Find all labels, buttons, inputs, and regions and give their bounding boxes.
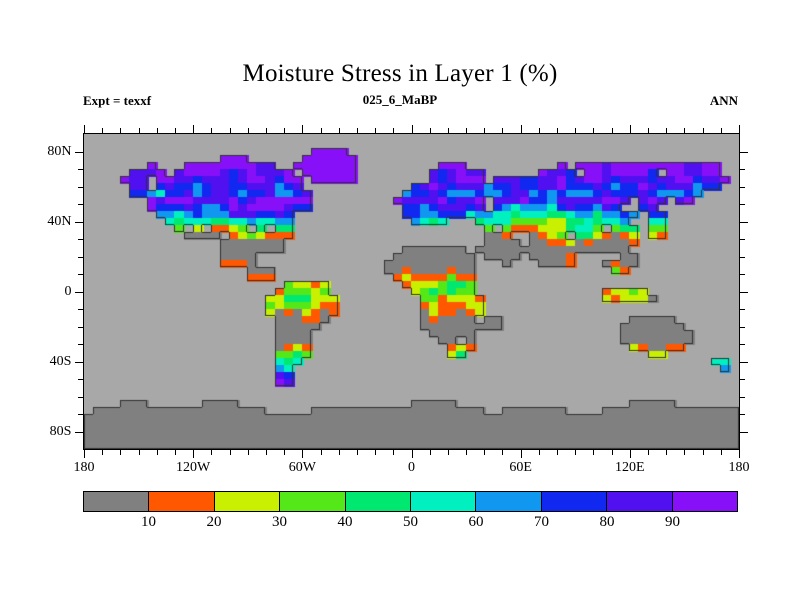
x-axis-minor-tick-top bbox=[703, 128, 704, 133]
colorbar-tick-label: 80 bbox=[600, 514, 615, 531]
x-axis-minor-tick-top bbox=[466, 128, 467, 133]
x-axis-label: 60E bbox=[509, 460, 532, 476]
x-axis-minor-tick bbox=[484, 450, 485, 455]
x-axis-label: 60W bbox=[289, 460, 316, 476]
y-axis-minor-tick-right bbox=[740, 344, 745, 345]
y-axis-label: 40N bbox=[47, 214, 77, 230]
y-axis-minor-tick bbox=[78, 239, 83, 240]
x-axis-minor-tick-top bbox=[593, 128, 594, 133]
y-axis-minor-tick bbox=[78, 397, 83, 398]
colorbar-tick-label: 60 bbox=[469, 514, 484, 531]
x-axis-minor-tick-top bbox=[339, 128, 340, 133]
x-axis-label: 180 bbox=[74, 460, 95, 476]
colorbar-swatch-40-50 bbox=[345, 492, 410, 511]
x-axis-minor-tick-top bbox=[321, 128, 322, 133]
y-axis-minor-tick bbox=[78, 204, 83, 205]
x-axis-major-tick-top bbox=[193, 125, 194, 133]
x-axis-minor-tick bbox=[321, 450, 322, 455]
x-axis-label: 120E bbox=[615, 460, 645, 476]
x-axis-major-tick-top bbox=[521, 125, 522, 133]
x-axis-minor-tick bbox=[502, 450, 503, 455]
y-axis-major-tick-right bbox=[740, 152, 748, 153]
y-axis-minor-tick bbox=[78, 257, 83, 258]
x-axis-minor-tick bbox=[466, 450, 467, 455]
x-axis-minor-tick-top bbox=[721, 128, 722, 133]
x-axis-minor-tick bbox=[593, 450, 594, 455]
x-axis-major-tick bbox=[302, 450, 303, 458]
colorbar-tick-label: 50 bbox=[403, 514, 418, 531]
x-axis-minor-tick bbox=[357, 450, 358, 455]
x-axis-minor-tick bbox=[393, 450, 394, 455]
x-axis-major-tick bbox=[630, 450, 631, 458]
x-axis-minor-tick-top bbox=[430, 128, 431, 133]
colorbar-tick-label: 20 bbox=[207, 514, 222, 531]
x-axis-minor-tick bbox=[102, 450, 103, 455]
x-axis-minor-tick bbox=[448, 450, 449, 455]
x-axis-major-tick bbox=[84, 450, 85, 458]
y-axis-minor-tick bbox=[78, 187, 83, 188]
x-axis-minor-tick-top bbox=[484, 128, 485, 133]
x-axis-label: 0 bbox=[408, 460, 415, 476]
y-axis-label: 80N bbox=[47, 144, 77, 160]
x-axis-minor-tick-top bbox=[393, 128, 394, 133]
experiment-label: Expt = texxf bbox=[83, 93, 151, 109]
x-axis-minor-tick bbox=[284, 450, 285, 455]
x-axis-major-tick-top bbox=[412, 125, 413, 133]
x-axis-minor-tick-top bbox=[102, 128, 103, 133]
x-axis-minor-tick-top bbox=[248, 128, 249, 133]
x-axis-minor-tick bbox=[375, 450, 376, 455]
y-axis-minor-tick-right bbox=[740, 169, 745, 170]
x-axis-minor-tick bbox=[211, 450, 212, 455]
x-axis-major-tick bbox=[412, 450, 413, 458]
x-axis-minor-tick-top bbox=[539, 128, 540, 133]
colorbar-tick-label: 40 bbox=[338, 514, 353, 531]
colorbar: 102030405060708090 bbox=[83, 491, 738, 512]
x-axis-label: 120W bbox=[176, 460, 210, 476]
colorbar-swatch-80-90 bbox=[606, 492, 671, 511]
x-axis-minor-tick bbox=[557, 450, 558, 455]
moisture-stress-map bbox=[84, 134, 739, 449]
x-axis-minor-tick-top bbox=[666, 128, 667, 133]
y-axis-minor-tick bbox=[78, 309, 83, 310]
x-axis-minor-tick-top bbox=[612, 128, 613, 133]
x-axis-label: 180 bbox=[729, 460, 750, 476]
season-label: ANN bbox=[710, 93, 738, 109]
x-axis-major-tick bbox=[739, 450, 740, 458]
y-axis-label: 80S bbox=[50, 424, 78, 440]
y-axis-major-tick-right bbox=[740, 222, 748, 223]
x-axis-minor-tick bbox=[684, 450, 685, 455]
colorbar-swatch-10-20 bbox=[148, 492, 213, 511]
x-axis-minor-tick bbox=[266, 450, 267, 455]
y-axis-major-tick-right bbox=[740, 292, 748, 293]
x-axis-minor-tick-top bbox=[575, 128, 576, 133]
x-axis-major-tick-top bbox=[84, 125, 85, 133]
x-axis-minor-tick bbox=[175, 450, 176, 455]
y-axis-minor-tick bbox=[78, 169, 83, 170]
x-axis-minor-tick-top bbox=[139, 128, 140, 133]
colorbar-swatch-60-70 bbox=[475, 492, 540, 511]
x-axis-minor-tick bbox=[120, 450, 121, 455]
map-plot-area: 80N40N040S80S180120W60W060E120E180 bbox=[83, 133, 740, 450]
y-axis-minor-tick-right bbox=[740, 187, 745, 188]
climate-map-figure: Moisture Stress in Layer 1 (%) 025_6_MaB… bbox=[0, 0, 800, 600]
colorbar-tick-label: 90 bbox=[665, 514, 680, 531]
y-axis-minor-tick bbox=[78, 327, 83, 328]
y-axis-minor-tick-right bbox=[740, 309, 745, 310]
x-axis-minor-tick-top bbox=[448, 128, 449, 133]
x-axis-minor-tick bbox=[248, 450, 249, 455]
x-axis-minor-tick-top bbox=[502, 128, 503, 133]
x-axis-minor-tick-top bbox=[557, 128, 558, 133]
colorbar-swatch-below-10 bbox=[84, 492, 148, 511]
x-axis-minor-tick-top bbox=[157, 128, 158, 133]
y-axis-minor-tick-right bbox=[740, 397, 745, 398]
y-axis-label: 40S bbox=[50, 354, 78, 370]
colorbar-swatch-20-30 bbox=[214, 492, 279, 511]
x-axis-minor-tick-top bbox=[357, 128, 358, 133]
x-axis-minor-tick bbox=[703, 450, 704, 455]
x-axis-major-tick-top bbox=[739, 125, 740, 133]
y-axis-major-tick-right bbox=[740, 362, 748, 363]
y-axis-minor-tick-right bbox=[740, 327, 745, 328]
x-axis-minor-tick bbox=[721, 450, 722, 455]
colorbar-tick-label: 10 bbox=[141, 514, 156, 531]
colorbar-swatch-30-40 bbox=[279, 492, 344, 511]
x-axis-major-tick bbox=[193, 450, 194, 458]
y-axis-minor-tick-right bbox=[740, 204, 745, 205]
colorbar-tick-label: 30 bbox=[272, 514, 287, 531]
x-axis-minor-tick bbox=[612, 450, 613, 455]
colorbar-swatch-50-60 bbox=[410, 492, 475, 511]
x-axis-minor-tick-top bbox=[120, 128, 121, 133]
x-axis-minor-tick bbox=[157, 450, 158, 455]
y-axis-minor-tick bbox=[78, 414, 83, 415]
x-axis-minor-tick bbox=[339, 450, 340, 455]
colorbar-swatches bbox=[83, 491, 738, 512]
y-axis-minor-tick-right bbox=[740, 414, 745, 415]
x-axis-minor-tick-top bbox=[284, 128, 285, 133]
x-axis-minor-tick bbox=[648, 450, 649, 455]
x-axis-minor-tick-top bbox=[648, 128, 649, 133]
y-axis-minor-tick bbox=[78, 379, 83, 380]
colorbar-swatch-70-80 bbox=[541, 492, 606, 511]
x-axis-minor-tick-top bbox=[230, 128, 231, 133]
x-axis-minor-tick bbox=[139, 450, 140, 455]
x-axis-major-tick-top bbox=[302, 125, 303, 133]
y-axis-minor-tick-right bbox=[740, 379, 745, 380]
page-title: Moisture Stress in Layer 1 (%) bbox=[0, 60, 800, 88]
x-axis-minor-tick-top bbox=[684, 128, 685, 133]
y-axis-major-tick-right bbox=[740, 432, 748, 433]
y-axis-label: 0 bbox=[64, 284, 77, 300]
x-axis-minor-tick bbox=[666, 450, 667, 455]
y-axis-minor-tick-right bbox=[740, 239, 745, 240]
colorbar-tick-label: 70 bbox=[534, 514, 549, 531]
x-axis-minor-tick-top bbox=[175, 128, 176, 133]
y-axis-minor-tick-right bbox=[740, 257, 745, 258]
x-axis-minor-tick-top bbox=[211, 128, 212, 133]
x-axis-minor-tick bbox=[430, 450, 431, 455]
x-axis-minor-tick bbox=[230, 450, 231, 455]
y-axis-minor-tick bbox=[78, 274, 83, 275]
x-axis-minor-tick-top bbox=[266, 128, 267, 133]
x-axis-minor-tick-top bbox=[375, 128, 376, 133]
x-axis-minor-tick bbox=[575, 450, 576, 455]
x-axis-minor-tick bbox=[539, 450, 540, 455]
y-axis-minor-tick-right bbox=[740, 274, 745, 275]
colorbar-swatch-above-90 bbox=[672, 492, 737, 511]
x-axis-major-tick bbox=[521, 450, 522, 458]
x-axis-major-tick-top bbox=[630, 125, 631, 133]
y-axis-minor-tick bbox=[78, 344, 83, 345]
